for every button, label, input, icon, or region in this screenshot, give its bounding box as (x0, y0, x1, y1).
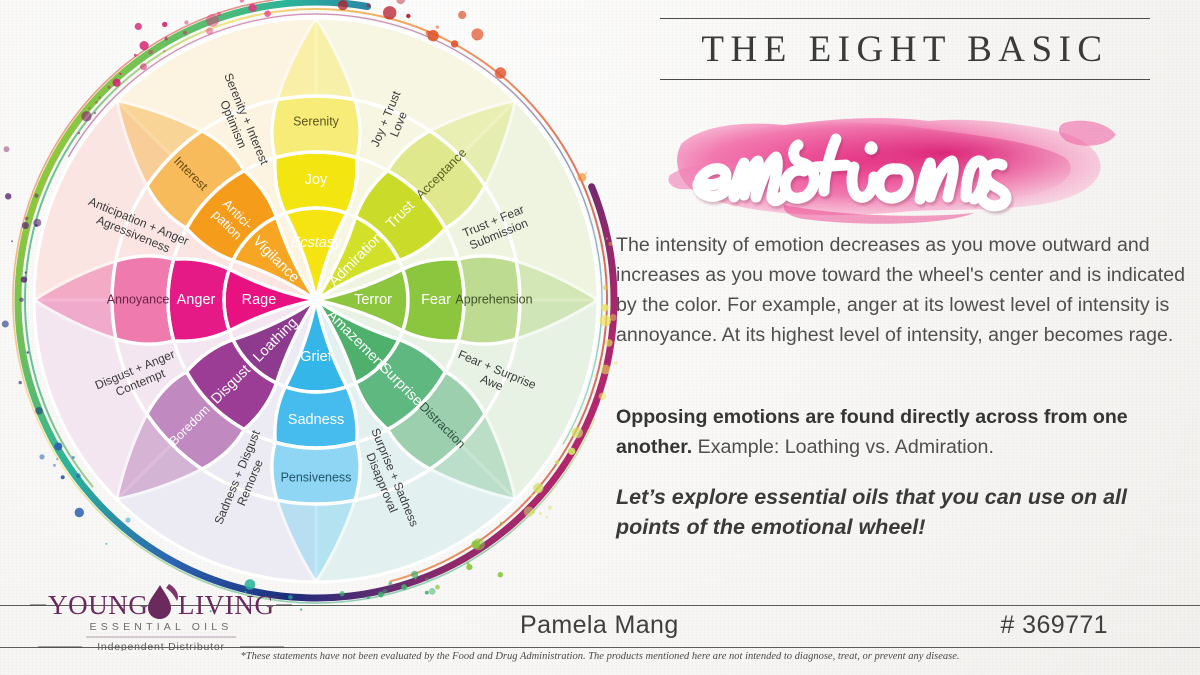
call-to-action-paragraph: Let’s explore essential oils that you ca… (616, 482, 1196, 542)
logo-tagline: ESSENTIAL OILS (89, 621, 232, 633)
distributor-number: # 369771 (1001, 611, 1108, 640)
page-title: THE EIGHT BASIC (660, 19, 1150, 79)
logo-trademark: ™ (272, 596, 279, 603)
young-living-logo: YOUNG LIVING ™ ESSENTIAL OILS Independen… (30, 579, 292, 651)
logo-brand-young: YOUNG (48, 590, 149, 620)
young-living-logo-graphic: YOUNG LIVING ™ ESSENTIAL OILS Independen… (30, 579, 292, 651)
svg-text:Rage: Rage (242, 292, 277, 308)
svg-text:Serenity: Serenity (293, 114, 340, 128)
svg-text:Fear: Fear (421, 292, 451, 308)
logo-brand-living: LIVING (178, 590, 275, 620)
emotion-wheel-panel: EcstasyJoySerenityAdmirationTrustAccepta… (0, 0, 625, 617)
emotions-script-graphic (664, 105, 1134, 225)
svg-text:Grief: Grief (300, 349, 332, 365)
script-headline-block (664, 105, 1134, 225)
svg-text:Joy: Joy (305, 172, 328, 188)
svg-text:Terror: Terror (354, 292, 392, 308)
intro-paragraph: The intensity of emotion decreases as yo… (616, 230, 1196, 350)
droplet-icon (148, 584, 178, 619)
svg-text:Annoyance: Annoyance (107, 292, 170, 306)
svg-text:Ecstasy: Ecstasy (291, 235, 343, 251)
right-content-column: THE EIGHT BASIC (612, 0, 1200, 600)
opposing-paragraph: Opposing emotions are found directly acr… (616, 402, 1196, 462)
svg-text:Apprehension: Apprehension (455, 292, 532, 306)
title-rule-bottom (660, 79, 1150, 80)
svg-text:Anger: Anger (177, 292, 216, 308)
distributor-name: Pamela Mang (520, 611, 679, 640)
logo-role: Independent Distributor (97, 641, 225, 651)
fda-disclaimer: *These statements have not been evaluate… (0, 651, 1200, 662)
emotion-wheel-chart: EcstasyJoySerenityAdmirationTrustAccepta… (0, 0, 625, 617)
svg-text:Pensiveness: Pensiveness (281, 470, 352, 484)
title-block: THE EIGHT BASIC (660, 18, 1150, 80)
opposing-regular-text: Example: Loathing vs. Admiration. (692, 436, 994, 458)
svg-text:Sadness: Sadness (288, 412, 344, 428)
